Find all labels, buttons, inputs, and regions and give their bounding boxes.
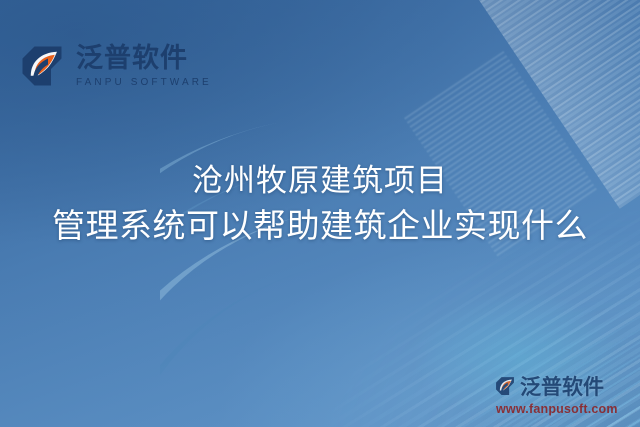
watermark: 泛普软件 www.fanpusoft.com: [494, 371, 634, 419]
brand-name-cn: 泛普软件: [76, 45, 212, 72]
fanpu-logo-mark-icon: [18, 42, 66, 90]
promo-banner: 泛普软件 FANPU SOFTWARE 沧州牧原建筑项目 管理系统可以帮助建筑企…: [0, 0, 640, 427]
watermark-brand-cn: 泛普软件: [520, 371, 604, 401]
brand-logo: 泛普软件 FANPU SOFTWARE: [18, 42, 212, 90]
brand-logo-text: 泛普软件 FANPU SOFTWARE: [76, 45, 212, 88]
page-title-line1: 沧州牧原建筑项目: [0, 160, 640, 203]
brand-name-en: FANPU SOFTWARE: [76, 78, 212, 88]
page-title: 沧州牧原建筑项目 管理系统可以帮助建筑企业实现什么: [0, 160, 640, 248]
watermark-url: www.fanpusoft.com: [494, 402, 634, 416]
fanpu-logo-mark-icon: [494, 375, 516, 397]
page-title-line2: 管理系统可以帮助建筑企业实现什么: [0, 203, 640, 249]
watermark-brand-row: 泛普软件: [494, 371, 634, 401]
